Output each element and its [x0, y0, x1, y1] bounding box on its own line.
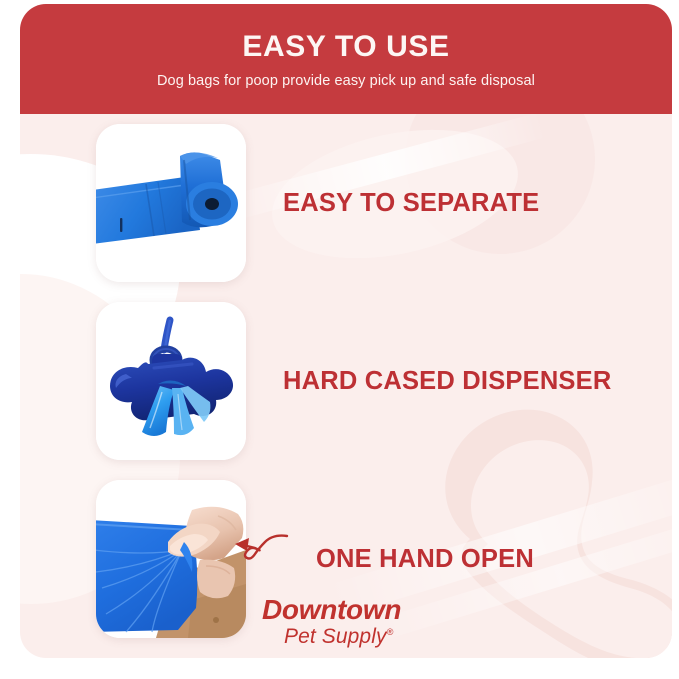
feature-label: ONE HAND OPEN: [316, 545, 534, 574]
feature-label: HARD CASED DISPENSER: [283, 367, 611, 396]
product-infographic: EASY TO USE Dog bags for poop provide ea…: [0, 0, 679, 679]
feature-list: EASY TO SEPARATE: [0, 114, 679, 648]
logo-line-downtown: Downtown: [262, 596, 492, 624]
registered-trademark-icon: ®: [387, 627, 394, 637]
feature-row: EASY TO SEPARATE: [0, 114, 679, 292]
banner-title: EASY TO USE: [20, 4, 672, 62]
bone-shaped-dispenser-image: [96, 302, 246, 460]
brand-logo: Downtown Pet Supply®: [262, 596, 492, 647]
feature-label: EASY TO SEPARATE: [283, 189, 539, 218]
roll-of-blue-poop-bags-image: [96, 124, 246, 282]
banner-subtitle: Dog bags for poop provide easy pick up a…: [20, 62, 672, 89]
curved-arrow-icon: [233, 526, 289, 568]
hand-opening-blue-bag-image: [96, 480, 246, 638]
logo-pet-supply-text: Pet Supply: [284, 625, 387, 648]
header-banner: EASY TO USE Dog bags for poop provide ea…: [20, 4, 672, 114]
logo-line-pet-supply: Pet Supply®: [284, 626, 492, 647]
feature-row: HARD CASED DISPENSER: [0, 292, 679, 470]
